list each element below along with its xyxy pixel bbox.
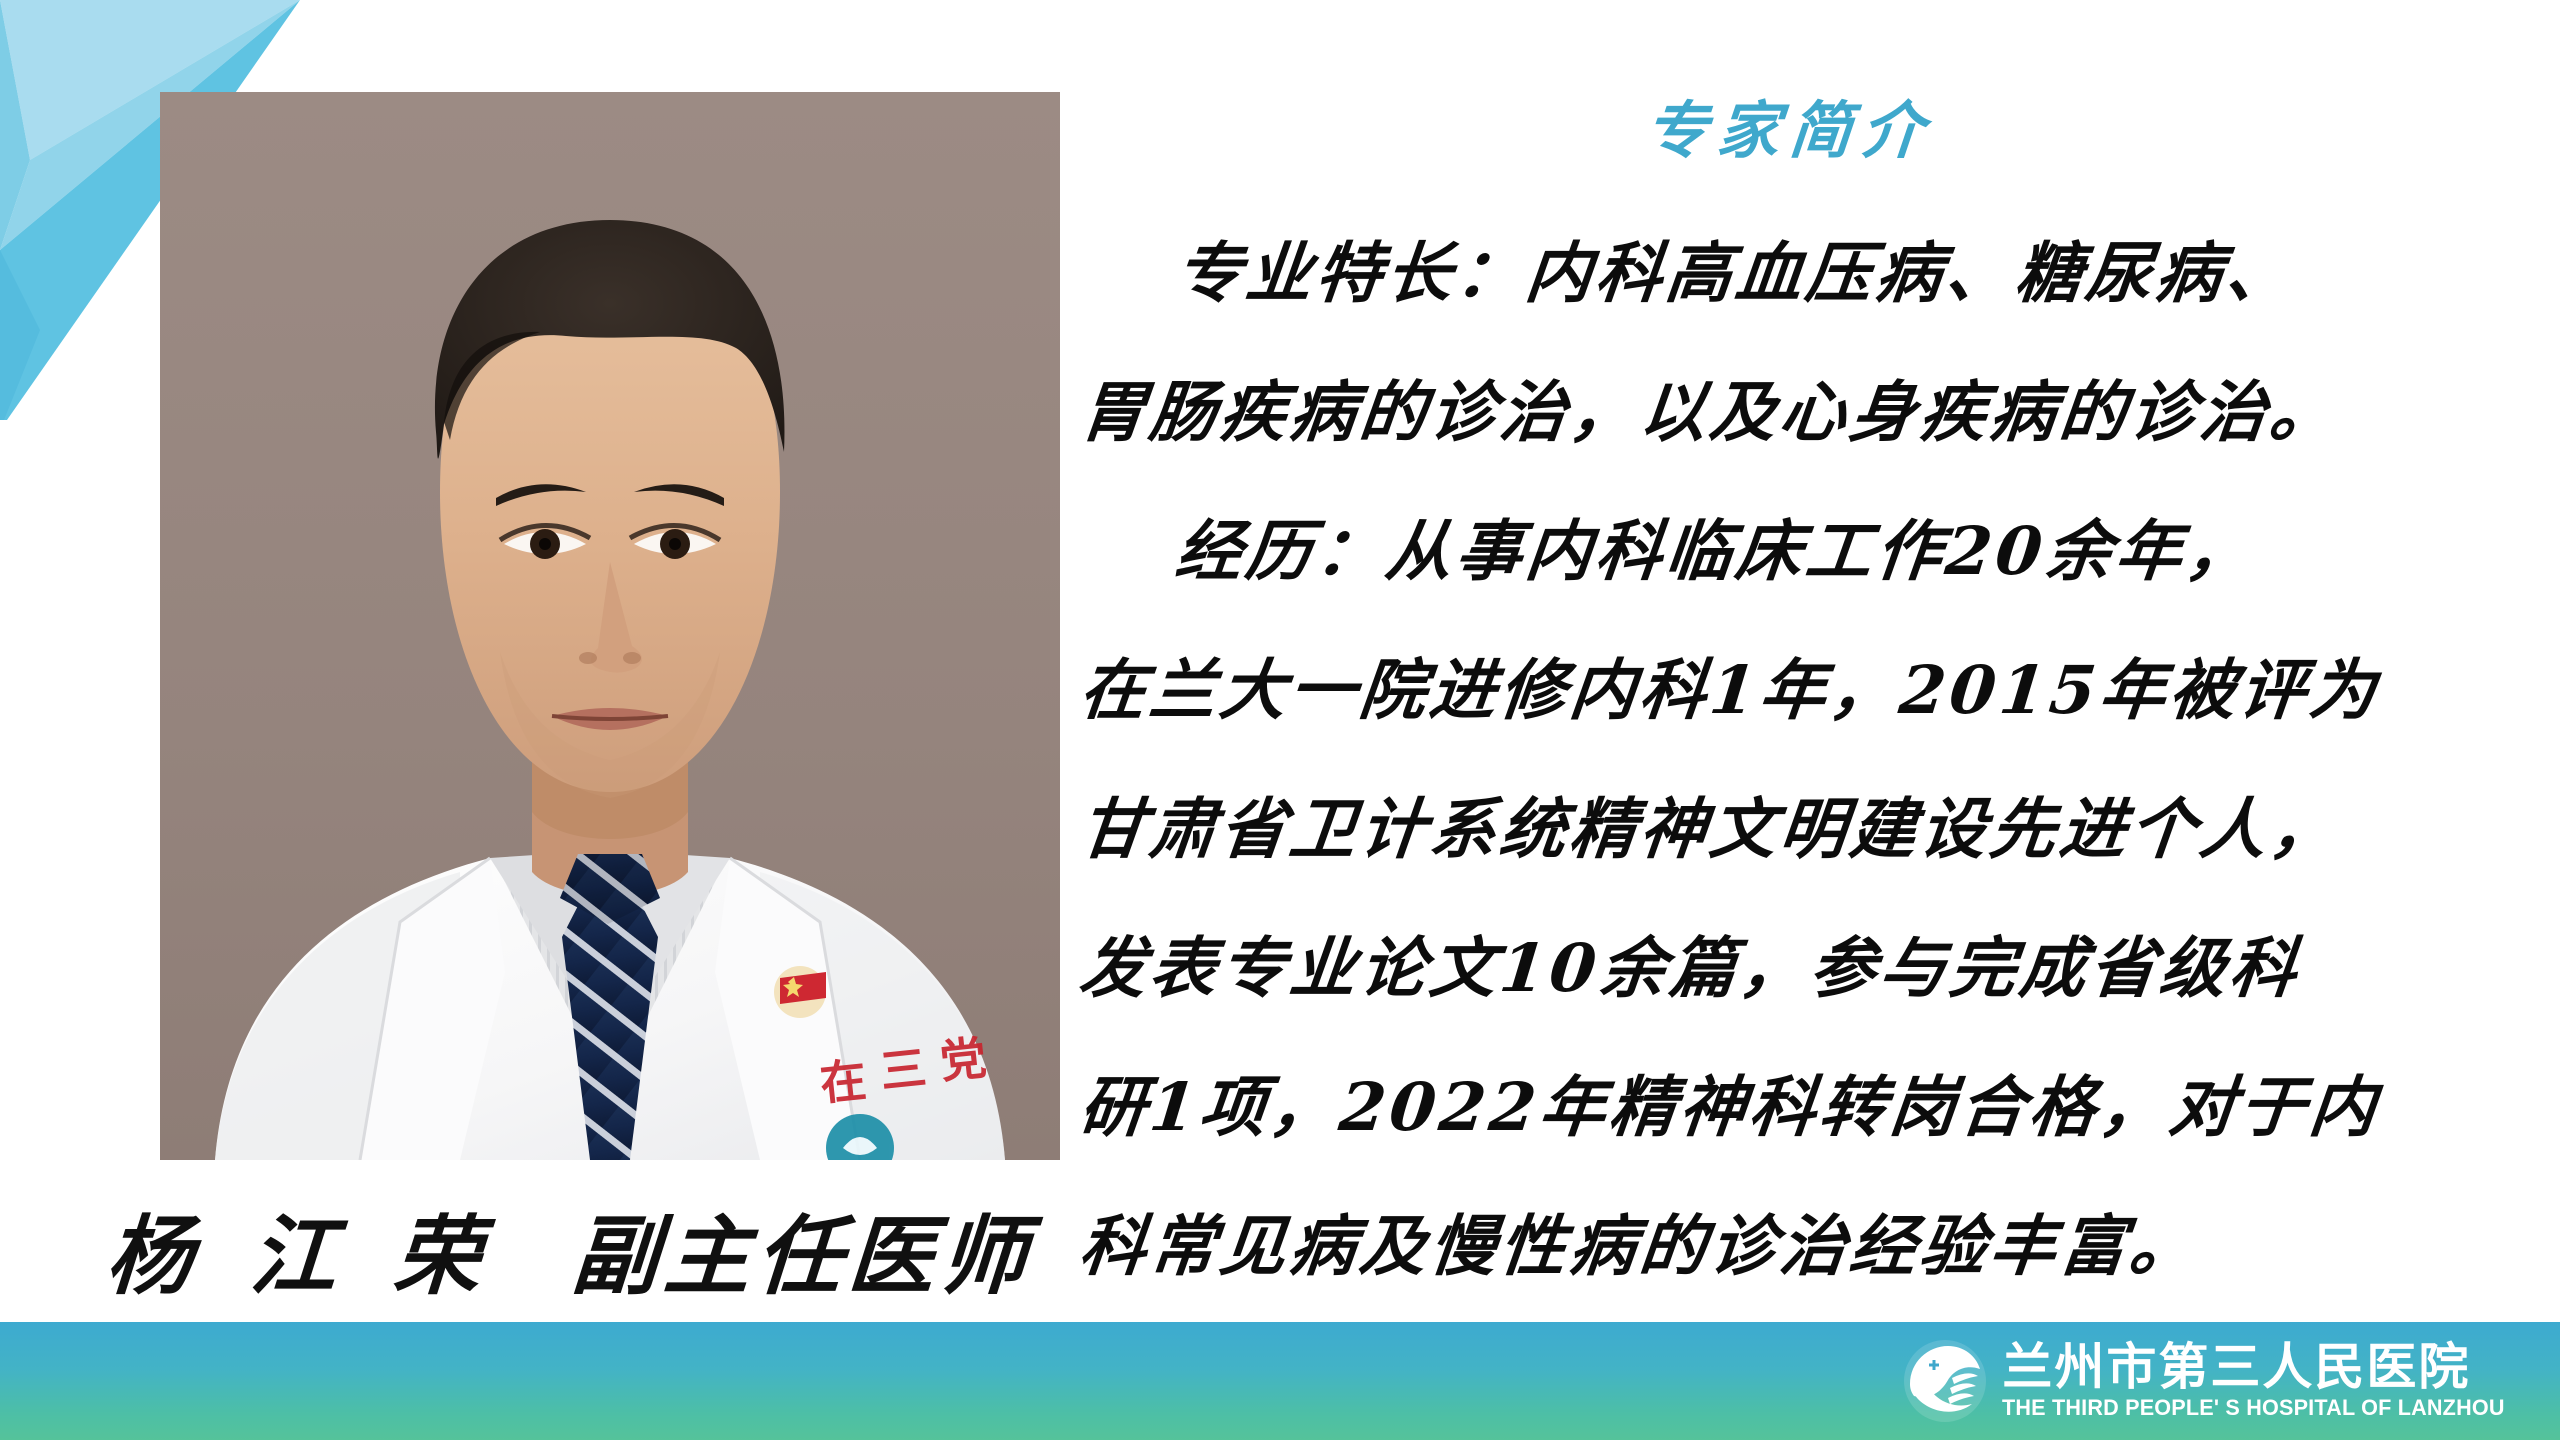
bio-line: 科常见病及慢性病的诊治经验丰富。	[1073, 1177, 2508, 1316]
doctor-portrait: 在 三 党	[160, 92, 1060, 1160]
svg-text:在: 在	[818, 1052, 869, 1111]
doctor-name-row: 杨 江 荣 副主任医师	[60, 1188, 1080, 1308]
hospital-brand-text: 兰州市第三人民医院 THE THIRD PEOPLE' S HOSPITAL O…	[2002, 1342, 2526, 1421]
bio-heading: 专家简介	[1076, 80, 2504, 170]
hospital-name-cn: 兰州市第三人民医院	[2002, 1342, 2526, 1393]
svg-text:三: 三	[878, 1040, 929, 1099]
footer-bar: 兰州市第三人民医院 THE THIRD PEOPLE' S HOSPITAL O…	[0, 1322, 2560, 1440]
hospital-brand: 兰州市第三人民医院 THE THIRD PEOPLE' S HOSPITAL O…	[1902, 1338, 2526, 1424]
bio-line: 专业特长：内科高血压病、糖尿病、	[1073, 204, 2508, 343]
party-badge-icon	[774, 966, 826, 1018]
bio-line: 发表专业论文10余篇，参与完成省级科	[1073, 899, 2508, 1038]
dove-cross-logo-icon	[1902, 1338, 1988, 1424]
bio-line: 在兰大一院进修内科1年，2015年被评为	[1073, 621, 2508, 760]
bio-panel: 专家简介 专业特长：内科高血压病、糖尿病、 胃肠疾病的诊治，以及心身疾病的诊治。…	[1080, 60, 2500, 1320]
svg-text:党: 党	[938, 1030, 989, 1089]
bio-line: 胃肠疾病的诊治，以及心身疾病的诊治。	[1073, 343, 2508, 482]
bio-line: 经历：从事内科临床工作20余年，	[1073, 482, 2508, 621]
doctor-name: 杨 江 荣	[103, 1186, 500, 1311]
bio-line: 甘肃省卫计系统精神文明建设先进个人，	[1073, 760, 2508, 899]
hospital-name-en: THE THIRD PEOPLE' S HOSPITAL OF LANZHOU	[2002, 1396, 2505, 1421]
doctor-title: 副主任医师	[569, 1186, 1038, 1311]
bio-line: 研1项，2022年精神科转岗合格，对于内	[1073, 1038, 2508, 1177]
bio-body: 专业特长：内科高血压病、糖尿病、 胃肠疾病的诊治，以及心身疾病的诊治。 经历：从…	[1080, 204, 2500, 1316]
